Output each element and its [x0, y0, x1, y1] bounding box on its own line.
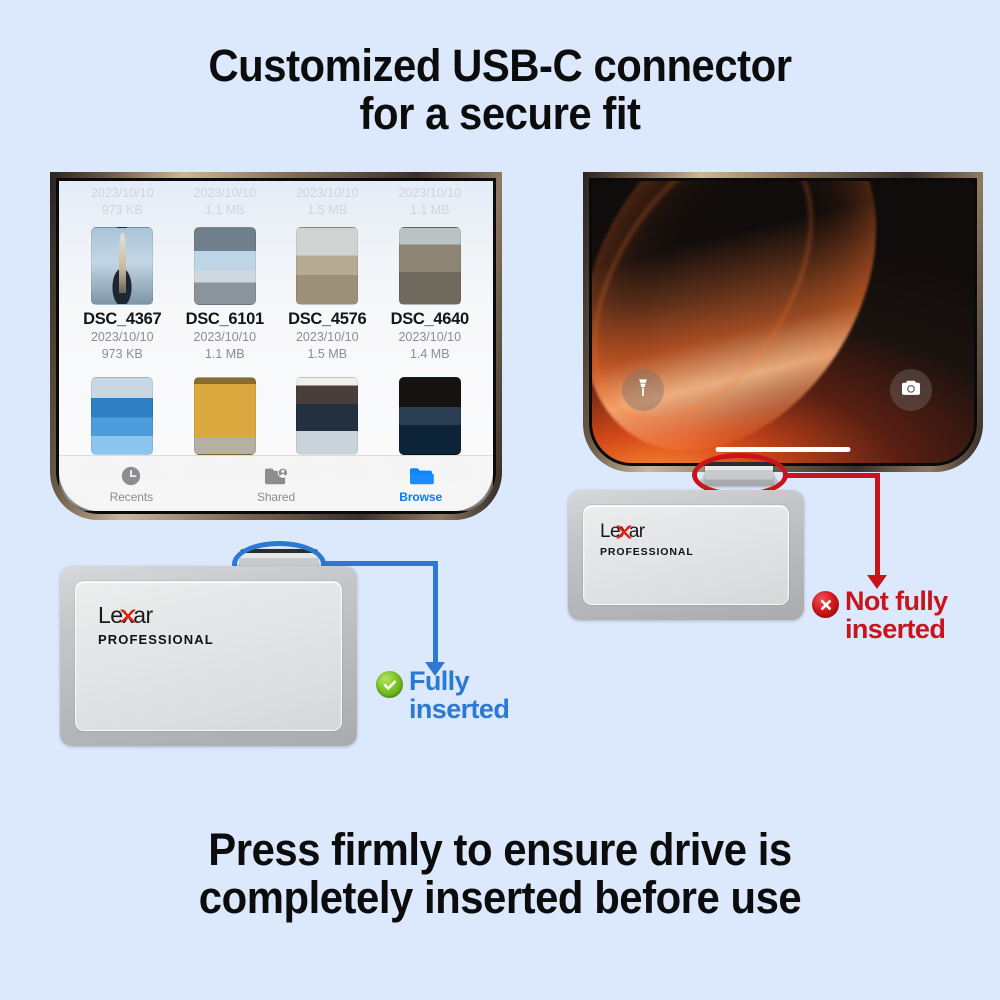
phone-left-screen: 2023/10/10 973 KB 2023/10/10 1.1 MB 2023…	[59, 181, 493, 511]
phone-right-screen	[592, 181, 974, 463]
gold-photo-icon[interactable]	[194, 377, 256, 455]
files-tab-bar: Recents Shared	[59, 455, 493, 511]
faded-date: 2023/10/10	[278, 185, 377, 202]
lexar-sub-brand: PROFESSIONAL	[600, 546, 788, 558]
leader-h	[784, 473, 880, 478]
lexar-x-accent-icon: x	[122, 602, 133, 628]
footer-line-2: completely inserted before use	[35, 874, 965, 922]
lock-screen	[592, 181, 974, 463]
callout-line-2: inserted	[845, 616, 948, 644]
phone-left-fully-inserted: 2023/10/10 973 KB 2023/10/10 1.1 MB 2023…	[50, 172, 502, 520]
faded-cell: 2023/10/10 1.1 MB	[176, 185, 275, 219]
footer-instruction: Press firmly to ensure drive is complete…	[0, 826, 1000, 921]
minaret-photo-icon[interactable]	[91, 227, 153, 305]
file-size: 1.1 MB	[176, 346, 275, 363]
faded-cell: 2023/10/10 1.1 MB	[381, 185, 480, 219]
files-app: 2023/10/10 973 KB 2023/10/10 1.1 MB 2023…	[59, 181, 493, 511]
tab-recents[interactable]: Recents	[59, 464, 204, 504]
phone-right-bezel	[589, 178, 977, 466]
faded-size: 1.5 MB	[278, 202, 377, 219]
night-photo-icon[interactable]	[296, 377, 358, 455]
lexar-ssd-right: Lexar PROFESSIONAL	[568, 490, 804, 620]
file-size: 1.5 MB	[278, 346, 377, 363]
headline-line-1: Customized USB-C connector	[35, 42, 965, 90]
marina-photo-icon[interactable]	[194, 227, 256, 305]
faded-cell: 2023/10/10 973 KB	[73, 185, 172, 219]
flashlight-icon	[635, 378, 651, 403]
camera-icon	[900, 379, 922, 402]
leader-v	[875, 473, 880, 578]
faded-date: 2023/10/10	[176, 185, 275, 202]
home-indicator[interactable]	[716, 447, 851, 452]
file-date: 2023/10/10	[278, 329, 377, 346]
file-date: 2023/10/10	[381, 329, 480, 346]
tab-browse[interactable]: Browse	[348, 464, 493, 504]
lexar-ssd-left: Lexar PROFESSIONAL	[60, 566, 357, 746]
faded-size: 1.1 MB	[381, 202, 480, 219]
callout-fully-inserted: Fully inserted	[376, 668, 509, 723]
file-name: DSC_4367	[73, 310, 172, 329]
callout-line-1: Not fully	[845, 588, 948, 616]
phone-right-not-fully-inserted	[583, 172, 983, 472]
faded-date: 2023/10/10	[73, 185, 172, 202]
dark-photo-icon[interactable]	[399, 377, 461, 455]
faded-date: 2023/10/10	[381, 185, 480, 202]
callout-line-2: inserted	[409, 696, 509, 724]
folder-icon	[348, 464, 493, 488]
file-name: DSC_4576	[278, 310, 377, 329]
x-icon	[812, 591, 839, 618]
tab-shared[interactable]: Shared	[204, 464, 349, 504]
faded-size: 1.1 MB	[176, 202, 275, 219]
ssd-label-plate-right: Lexar PROFESSIONAL	[583, 505, 789, 605]
file-date: 2023/10/10	[73, 329, 172, 346]
canyon-photo-icon[interactable]	[399, 227, 461, 305]
lexar-sub-brand: PROFESSIONAL	[98, 632, 341, 647]
file-size: 973 KB	[73, 346, 172, 363]
tab-label: Browse	[348, 490, 493, 504]
file-item[interactable]: DSC_4576 2023/10/10 1.5 MB	[278, 227, 377, 363]
faded-cell: 2023/10/10 1.5 MB	[278, 185, 377, 219]
files-faded-top-row: 2023/10/10 973 KB 2023/10/10 1.1 MB 2023…	[73, 185, 479, 219]
lexar-logo: Lexar	[98, 604, 153, 627]
callout-fully-text: Fully inserted	[409, 668, 509, 723]
lexar-x-accent-icon: x	[620, 521, 629, 542]
file-item[interactable]: DSC_4367 2023/10/10 973 KB	[73, 227, 172, 363]
faded-size: 973 KB	[73, 202, 172, 219]
check-icon	[376, 671, 403, 698]
file-item[interactable]: DSC_6101 2023/10/10 1.1 MB	[176, 227, 275, 363]
leader-v	[433, 561, 438, 665]
tab-label: Shared	[204, 490, 349, 504]
headline-line-2: for a secure fit	[35, 90, 965, 138]
file-date: 2023/10/10	[176, 329, 275, 346]
file-size: 1.4 MB	[381, 346, 480, 363]
shared-folder-icon	[204, 464, 349, 488]
file-grid-row-1: DSC_4367 2023/10/10 973 KB DSC_6101 2023…	[59, 227, 493, 363]
ssd-label-plate-left: Lexar PROFESSIONAL	[75, 581, 342, 731]
file-name: DSC_6101	[176, 310, 275, 329]
footer-line-1: Press firmly to ensure drive is	[35, 826, 965, 874]
camera-button[interactable]	[890, 369, 932, 411]
flashlight-button[interactable]	[622, 369, 664, 411]
clock-icon	[59, 464, 204, 488]
lexar-logo: Lexar	[600, 522, 645, 541]
callout-not-text: Not fully inserted	[845, 588, 948, 643]
phone-left-bezel: 2023/10/10 973 KB 2023/10/10 1.1 MB 2023…	[56, 178, 496, 514]
file-item[interactable]: DSC_4640 2023/10/10 1.4 MB	[381, 227, 480, 363]
callout-not-fully-inserted: Not fully inserted	[812, 588, 948, 643]
file-name: DSC_4640	[381, 310, 480, 329]
desert-photo-icon[interactable]	[296, 227, 358, 305]
tab-label: Recents	[59, 490, 204, 504]
iceberg-photo-icon[interactable]	[91, 377, 153, 455]
callout-line-1: Fully	[409, 668, 509, 696]
page-title: Customized USB-C connector for a secure …	[0, 42, 1000, 137]
